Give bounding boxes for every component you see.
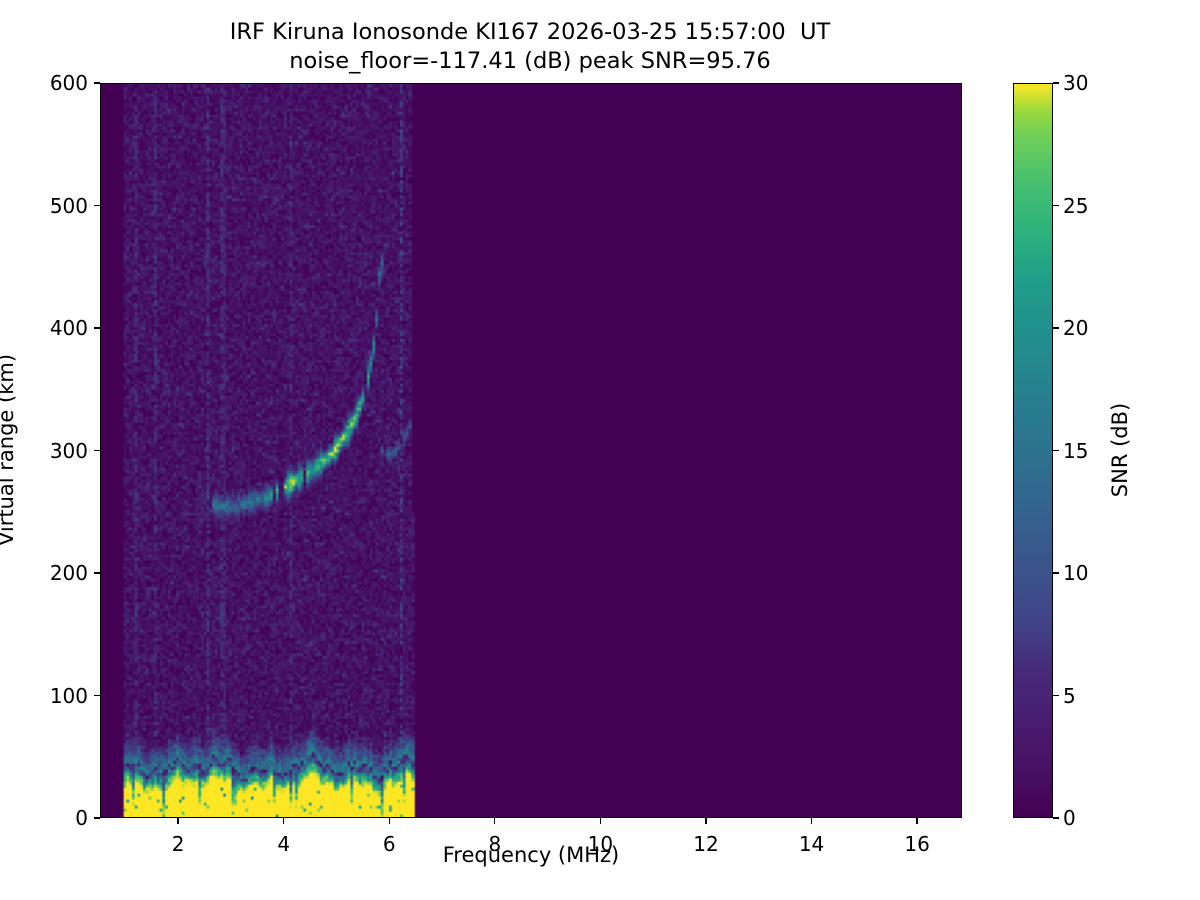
colorbar-tick-label-4: 20 (1063, 316, 1088, 340)
colorbar-tick-label-1: 5 (1063, 684, 1076, 708)
x-tick-mark (283, 818, 284, 824)
x-tick-mark (811, 818, 812, 824)
x-tick-mark (494, 818, 495, 824)
ionogram-heatmap (101, 84, 961, 817)
y-axis-label: Virtual range (km) (0, 354, 18, 546)
chart-subtitle: noise_floor=-117.41 (dB) peak SNR=95.76 (0, 47, 1060, 76)
x-tick-label-6: 14 (799, 832, 824, 856)
y-tick-label-1: 100 (30, 684, 88, 708)
colorbar (1013, 83, 1053, 818)
chart-title-block: IRF Kiruna Ionosonde KI167 2026-03-25 15… (0, 18, 1060, 77)
colorbar-tick-label-0: 0 (1063, 806, 1076, 830)
x-tick-mark (705, 818, 706, 824)
colorbar-tick-label-3: 15 (1063, 439, 1088, 463)
x-axis-label: Frequency (MHz) (443, 843, 619, 867)
x-tick-mark (389, 818, 390, 824)
x-tick-mark (600, 818, 601, 824)
x-tick-label-1: 4 (277, 832, 290, 856)
x-tick-label-5: 12 (693, 832, 718, 856)
colorbar-tick-mark (1053, 817, 1059, 818)
x-tick-label-0: 2 (172, 832, 185, 856)
y-tick-mark (94, 817, 100, 818)
x-tick-mark (916, 818, 917, 824)
colorbar-tick-mark (1053, 82, 1059, 83)
y-tick-mark (94, 205, 100, 206)
colorbar-tick-mark (1053, 450, 1059, 451)
y-tick-label-2: 200 (30, 561, 88, 585)
x-tick-mark (177, 818, 178, 824)
x-tick-label-7: 16 (904, 832, 929, 856)
colorbar-tick-mark (1053, 327, 1059, 328)
y-tick-mark (94, 572, 100, 573)
colorbar-tick-label-5: 25 (1063, 194, 1088, 218)
y-tick-label-5: 500 (30, 194, 88, 218)
ionogram-plot-area (100, 83, 962, 818)
colorbar-tick-mark (1053, 695, 1059, 696)
y-tick-label-6: 600 (30, 71, 88, 95)
y-tick-mark (94, 450, 100, 451)
y-tick-label-4: 400 (30, 316, 88, 340)
x-tick-label-2: 6 (383, 832, 396, 856)
colorbar-label: SNR (dB) (1108, 403, 1132, 497)
y-tick-label-3: 300 (30, 439, 88, 463)
colorbar-tick-mark (1053, 205, 1059, 206)
y-tick-mark (94, 695, 100, 696)
y-tick-label-0: 0 (30, 806, 88, 830)
colorbar-gradient (1014, 84, 1052, 817)
page-title: IRF Kiruna Ionosonde KI167 2026-03-25 15… (0, 18, 1060, 47)
colorbar-tick-label-2: 10 (1063, 561, 1088, 585)
y-tick-mark (94, 327, 100, 328)
colorbar-tick-label-6: 30 (1063, 71, 1088, 95)
y-tick-mark (94, 82, 100, 83)
colorbar-tick-mark (1053, 572, 1059, 573)
